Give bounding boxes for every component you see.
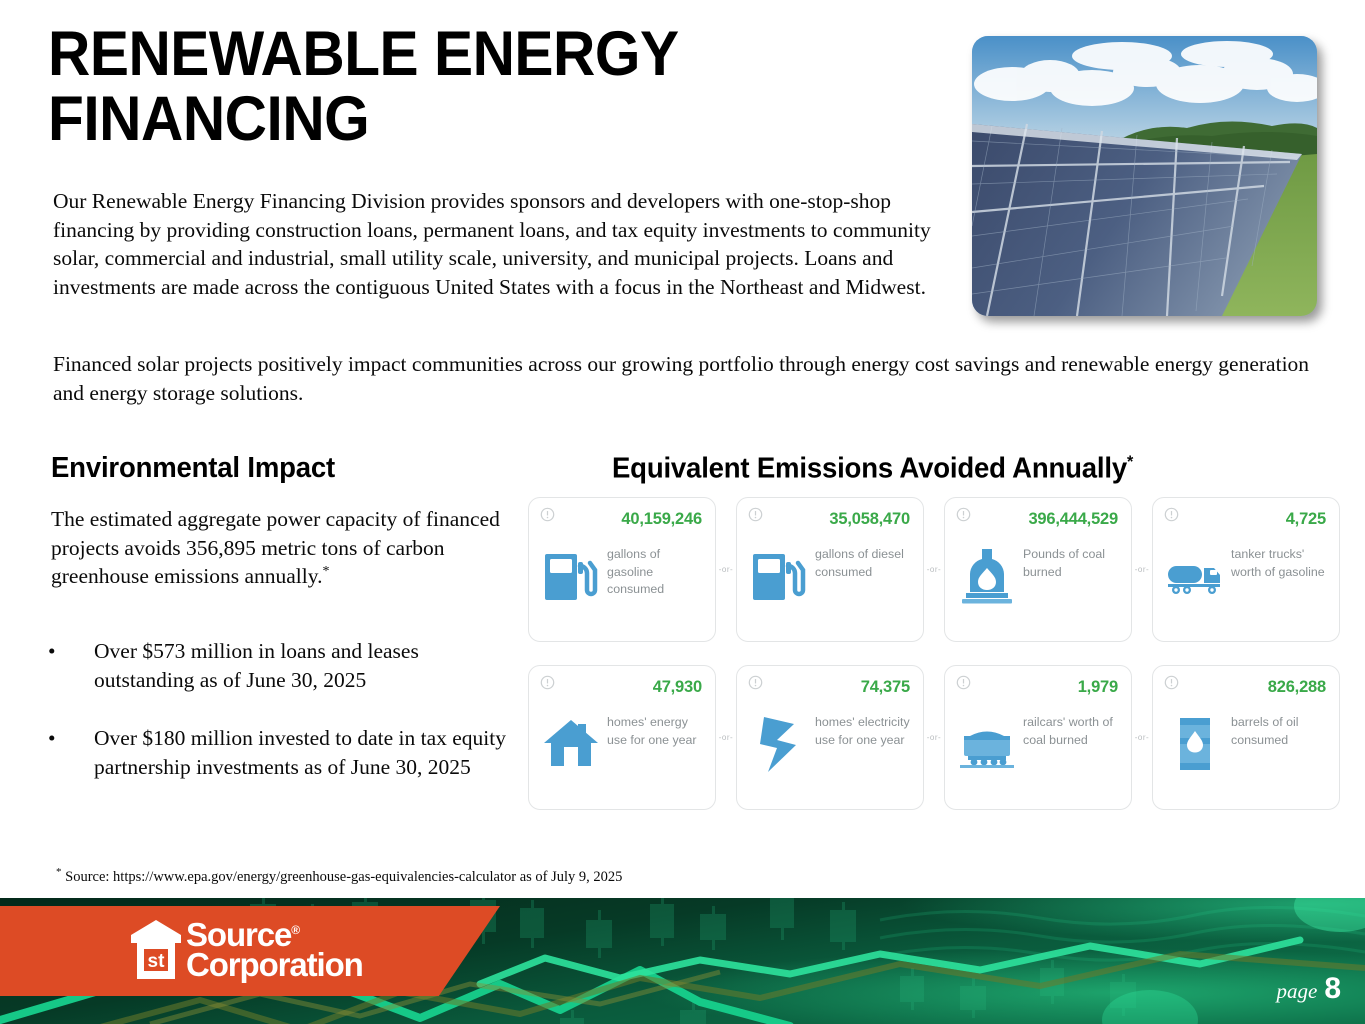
info-icon[interactable]: [540, 507, 555, 522]
list-item: • Over $180 million invested to date in …: [44, 724, 524, 781]
gas-pump-icon: [750, 546, 808, 606]
coal-furnace-icon: [958, 546, 1016, 606]
emissions-card-railcars[interactable]: 1,979 railcars' worth of coal burned: [944, 665, 1132, 810]
info-icon[interactable]: [956, 675, 971, 690]
card-label: tanker trucks' worth of gasoline: [1231, 546, 1331, 581]
emissions-card-gasoline[interactable]: 40,159,246 gallons of gasoline consumed: [528, 497, 716, 642]
emissions-card-barrels-oil[interactable]: 826,288 barrels of oil consumed: [1152, 665, 1340, 810]
brand-logo: st 1 Source® Corporation: [130, 911, 363, 989]
oil-barrel-icon: [1166, 714, 1224, 774]
capacity-text: The estimated aggregate power capacity o…: [51, 505, 521, 591]
intro-paragraph: Our Renewable Energy Financing Division …: [53, 187, 958, 302]
emissions-card-diesel[interactable]: 35,058,470 gallons of diesel consumed: [736, 497, 924, 642]
emissions-heading: Equivalent Emissions Avoided Annually*: [612, 452, 1133, 486]
brand-wordmark: Source® Corporation: [186, 920, 363, 981]
card-value: 4,725: [1286, 510, 1326, 529]
emissions-card-homes-electricity[interactable]: 74,375 homes' electricity use for one ye…: [736, 665, 924, 810]
list-item-label: Over $573 million in loans and leases ou…: [94, 639, 419, 692]
impact-paragraph: Financed solar projects positively impac…: [53, 350, 1338, 407]
svg-text:st: st: [148, 951, 166, 972]
emissions-card-coal-pounds[interactable]: 396,444,529 Pounds of coal burned: [944, 497, 1132, 642]
info-icon[interactable]: [748, 507, 763, 522]
card-value: 1,979: [1078, 678, 1118, 697]
card-label: barrels of oil consumed: [1231, 714, 1331, 749]
card-value: 396,444,529: [1028, 510, 1118, 529]
solar-panel-illustration: [972, 36, 1317, 316]
bullet-marker-icon: •: [48, 637, 56, 666]
info-icon[interactable]: [956, 507, 971, 522]
card-label: gallons of gasoline consumed: [607, 546, 707, 599]
coal-railcar-icon: [958, 714, 1016, 774]
emissions-card-homes-energy[interactable]: 47,930 homes' energy use for one year: [528, 665, 716, 810]
emissions-card-tanker-trucks[interactable]: 4,725 tanker trucks' worth of gasoline: [1152, 497, 1340, 642]
card-separator: -or-: [924, 497, 944, 642]
source-footnote-text: Source: https://www.epa.gov/energy/green…: [62, 869, 623, 885]
card-value: 40,159,246: [621, 510, 702, 529]
card-separator: -or-: [716, 497, 736, 642]
emissions-card-row: 40,159,246 gallons of gasoline consumed …: [528, 497, 1340, 642]
card-separator: -or-: [716, 665, 736, 810]
emissions-heading-label: Equivalent Emissions Avoided Annually: [612, 453, 1127, 485]
tanker-truck-icon: [1166, 546, 1224, 606]
info-icon[interactable]: [1164, 507, 1179, 522]
page-label: page: [1276, 979, 1317, 1004]
card-label: homes' energy use for one year: [607, 714, 707, 749]
gas-pump-icon: [542, 546, 600, 606]
first-source-house-mark-icon: st 1: [130, 919, 182, 981]
brand-line-2: Corporation: [186, 950, 363, 980]
card-label: homes' electricity use for one year: [815, 714, 915, 749]
emissions-card-grid: 40,159,246 gallons of gasoline consumed …: [528, 497, 1340, 822]
lightning-bolt-icon: [750, 714, 808, 774]
card-separator: -or-: [1132, 497, 1152, 642]
bullet-marker-icon: •: [48, 724, 56, 753]
card-separator: -or-: [1132, 665, 1152, 810]
card-value: 826,288: [1268, 678, 1326, 697]
card-value: 74,375: [861, 678, 910, 697]
capacity-text-body: The estimated aggregate power capacity o…: [51, 507, 500, 588]
source-footnote: * Source: https://www.epa.gov/energy/gre…: [56, 866, 622, 886]
card-label: Pounds of coal burned: [1023, 546, 1123, 581]
info-icon[interactable]: [540, 675, 555, 690]
info-icon[interactable]: [748, 675, 763, 690]
environmental-impact-heading: Environmental Impact: [51, 452, 335, 485]
solar-panel-photo: [972, 36, 1317, 316]
list-item: • Over $573 million in loans and leases …: [44, 637, 524, 694]
registered-mark-icon: ®: [291, 923, 300, 937]
impact-bullet-list: • Over $573 million in loans and leases …: [44, 637, 524, 812]
card-value: 35,058,470: [829, 510, 910, 529]
card-value: 47,930: [653, 678, 702, 697]
home-icon: [542, 714, 600, 774]
page-footer: st 1 Source® Corporation page 8: [0, 898, 1365, 1024]
card-separator: -or-: [924, 665, 944, 810]
page-title: RENEWABLE ENERGY FINANCING: [48, 22, 885, 152]
info-icon[interactable]: [1164, 675, 1179, 690]
card-label: railcars' worth of coal burned: [1023, 714, 1123, 749]
list-item-label: Over $180 million invested to date in ta…: [94, 726, 506, 779]
capacity-text-superscript: *: [322, 564, 329, 579]
page-number-value: 8: [1324, 972, 1341, 1006]
emissions-card-row: 47,930 homes' energy use for one year -o…: [528, 665, 1340, 810]
emissions-heading-superscript: *: [1127, 452, 1133, 471]
page-number: page 8: [1276, 972, 1341, 1006]
card-label: gallons of diesel consumed: [815, 546, 915, 581]
